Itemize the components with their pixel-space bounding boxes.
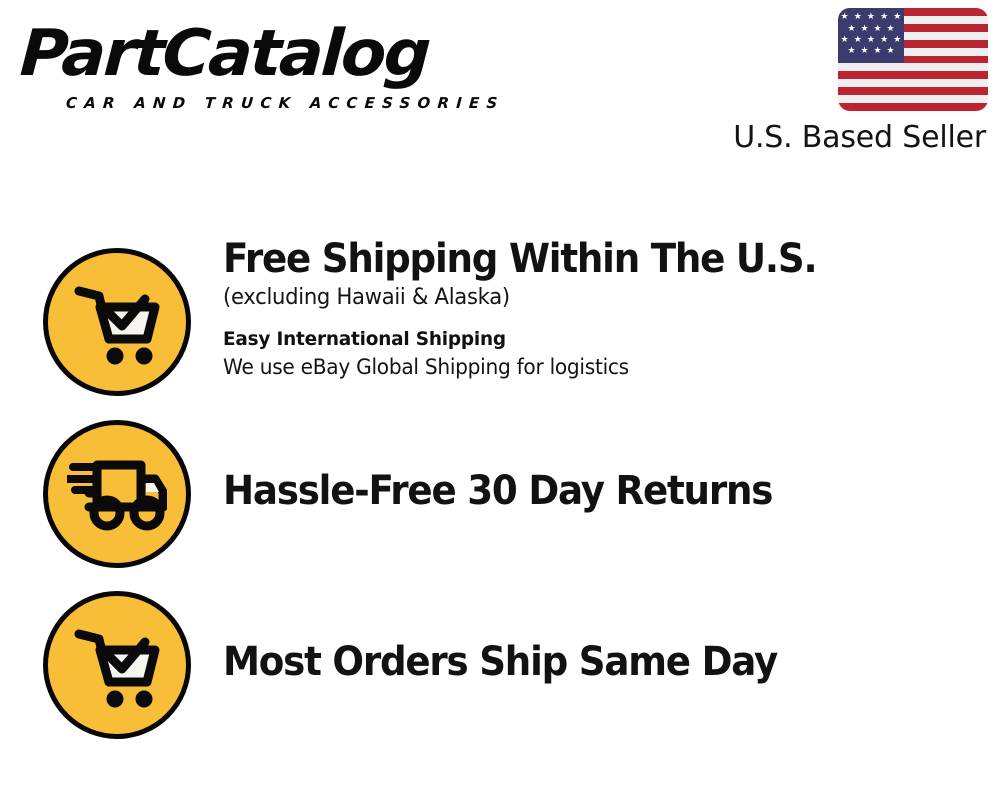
feature-headline: Most Orders Ship Same Day bbox=[223, 641, 911, 684]
flag-stripe bbox=[838, 95, 988, 103]
shopping-cart-check-icon bbox=[43, 591, 191, 739]
shopping-cart-check-icon bbox=[43, 248, 191, 396]
feature-row: Free Shipping Within The U.S. (excluding… bbox=[0, 238, 1000, 398]
flag-star-row: ★★★★★ bbox=[838, 35, 904, 44]
feature-subnote: We use eBay Global Shipping for logistic… bbox=[223, 355, 933, 380]
brand-wordmark: PartCatalog bbox=[19, 22, 431, 86]
flag-canton: ★★★★★ ★★★★ ★★★★★ ★★★★ bbox=[838, 8, 904, 63]
feature-row: Most Orders Ship Same Day bbox=[0, 581, 1000, 741]
feature-subhead: Easy International Shipping bbox=[223, 328, 941, 351]
flag-stripe bbox=[838, 103, 988, 111]
feature-text: Free Shipping Within The U.S. (excluding… bbox=[223, 238, 963, 381]
flag-stripe bbox=[838, 87, 988, 95]
flag-stripe bbox=[838, 71, 988, 79]
feature-headline: Free Shipping Within The U.S. bbox=[223, 238, 911, 281]
feature-subline: (excluding Hawaii & Alaska) bbox=[223, 285, 933, 311]
brand-logo: PartCatalog CAR AND TRUCK ACCESSORIES bbox=[22, 22, 492, 114]
brand-tagline: CAR AND TRUCK ACCESSORIES bbox=[65, 94, 505, 112]
us-based-seller-label: U.S. Based Seller bbox=[718, 120, 986, 155]
flag-star-row: ★★★★★ bbox=[838, 12, 904, 21]
us-based-seller-badge: ★★★★★ ★★★★ ★★★★★ ★★★★ U.S. Based Seller bbox=[718, 8, 988, 155]
feature-text: Most Orders Ship Same Day bbox=[223, 641, 963, 684]
flag-star-row: ★★★★ bbox=[838, 24, 904, 33]
us-flag-icon: ★★★★★ ★★★★ ★★★★★ ★★★★ bbox=[838, 8, 988, 111]
delivery-truck-icon bbox=[43, 420, 191, 568]
flag-stripe bbox=[838, 63, 988, 71]
feature-headline: Hassle-Free 30 Day Returns bbox=[223, 470, 911, 513]
flag-stripe bbox=[838, 79, 988, 87]
feature-text: Hassle-Free 30 Day Returns bbox=[223, 470, 963, 513]
flag-star-row: ★★★★ bbox=[838, 46, 904, 55]
feature-row: Hassle-Free 30 Day Returns bbox=[0, 410, 1000, 570]
